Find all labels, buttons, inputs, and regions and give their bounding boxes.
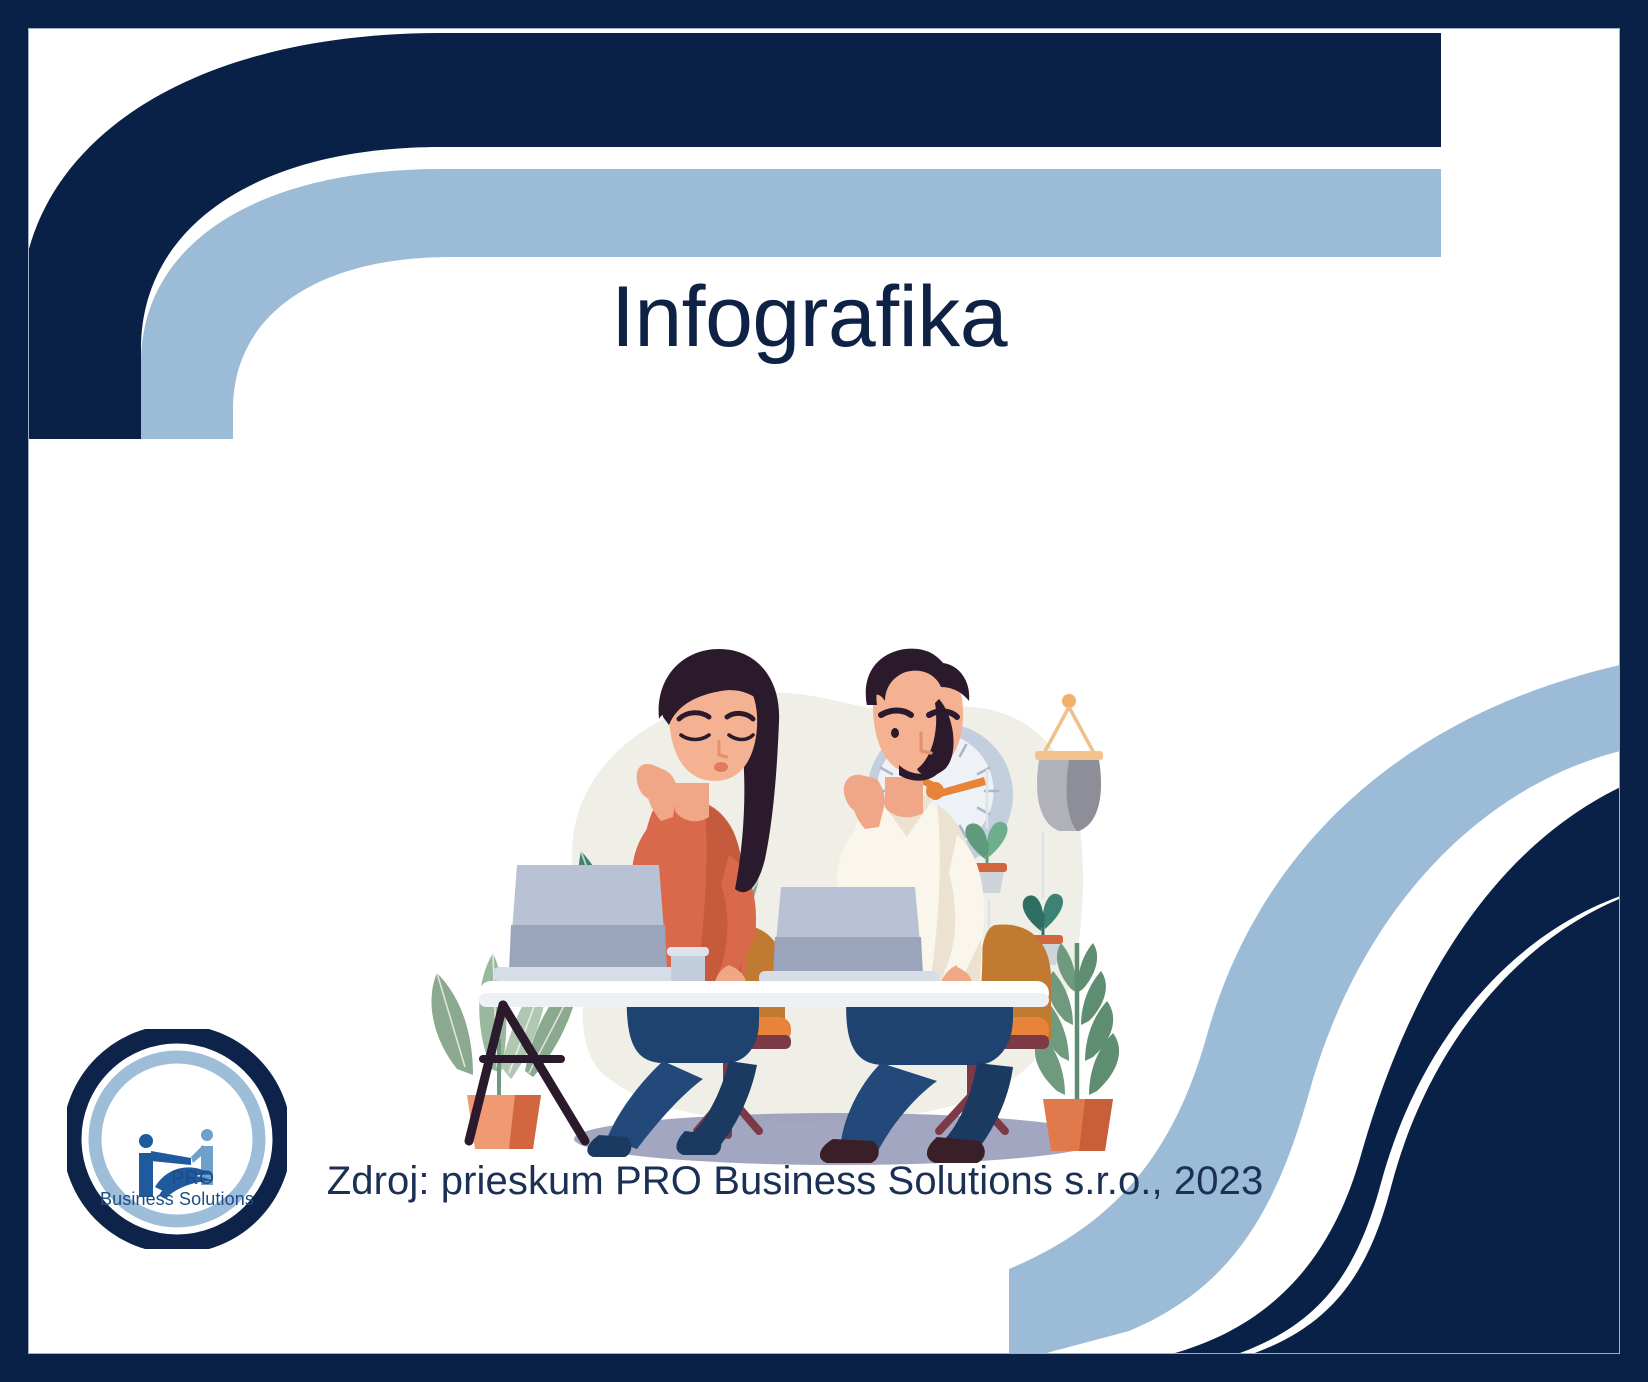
slide-root: Infografika (0, 0, 1648, 1382)
slide-canvas: Infografika (28, 28, 1620, 1354)
brand-logo: PRO Business Solutions (67, 1029, 287, 1249)
slide-title: Infografika (29, 274, 1620, 360)
source-caption-text: Zdroj: prieskum PRO Business Solutions s… (327, 1159, 1264, 1204)
illustration-laptop-left (493, 865, 685, 981)
decorative-swoosh-top-left (28, 28, 1441, 439)
brand-logo-primary-text: PRO (83, 1168, 303, 1190)
illustration-tired-office-workers (429, 569, 1169, 1179)
illustration-laptop-right (759, 887, 939, 985)
brand-logo-secondary-text: Business Solutions (67, 1189, 287, 1210)
illustration-hanging-planter-large (1035, 694, 1103, 831)
slide-title-text: Infografika (611, 274, 1007, 360)
brand-logo-mark (67, 1029, 287, 1249)
